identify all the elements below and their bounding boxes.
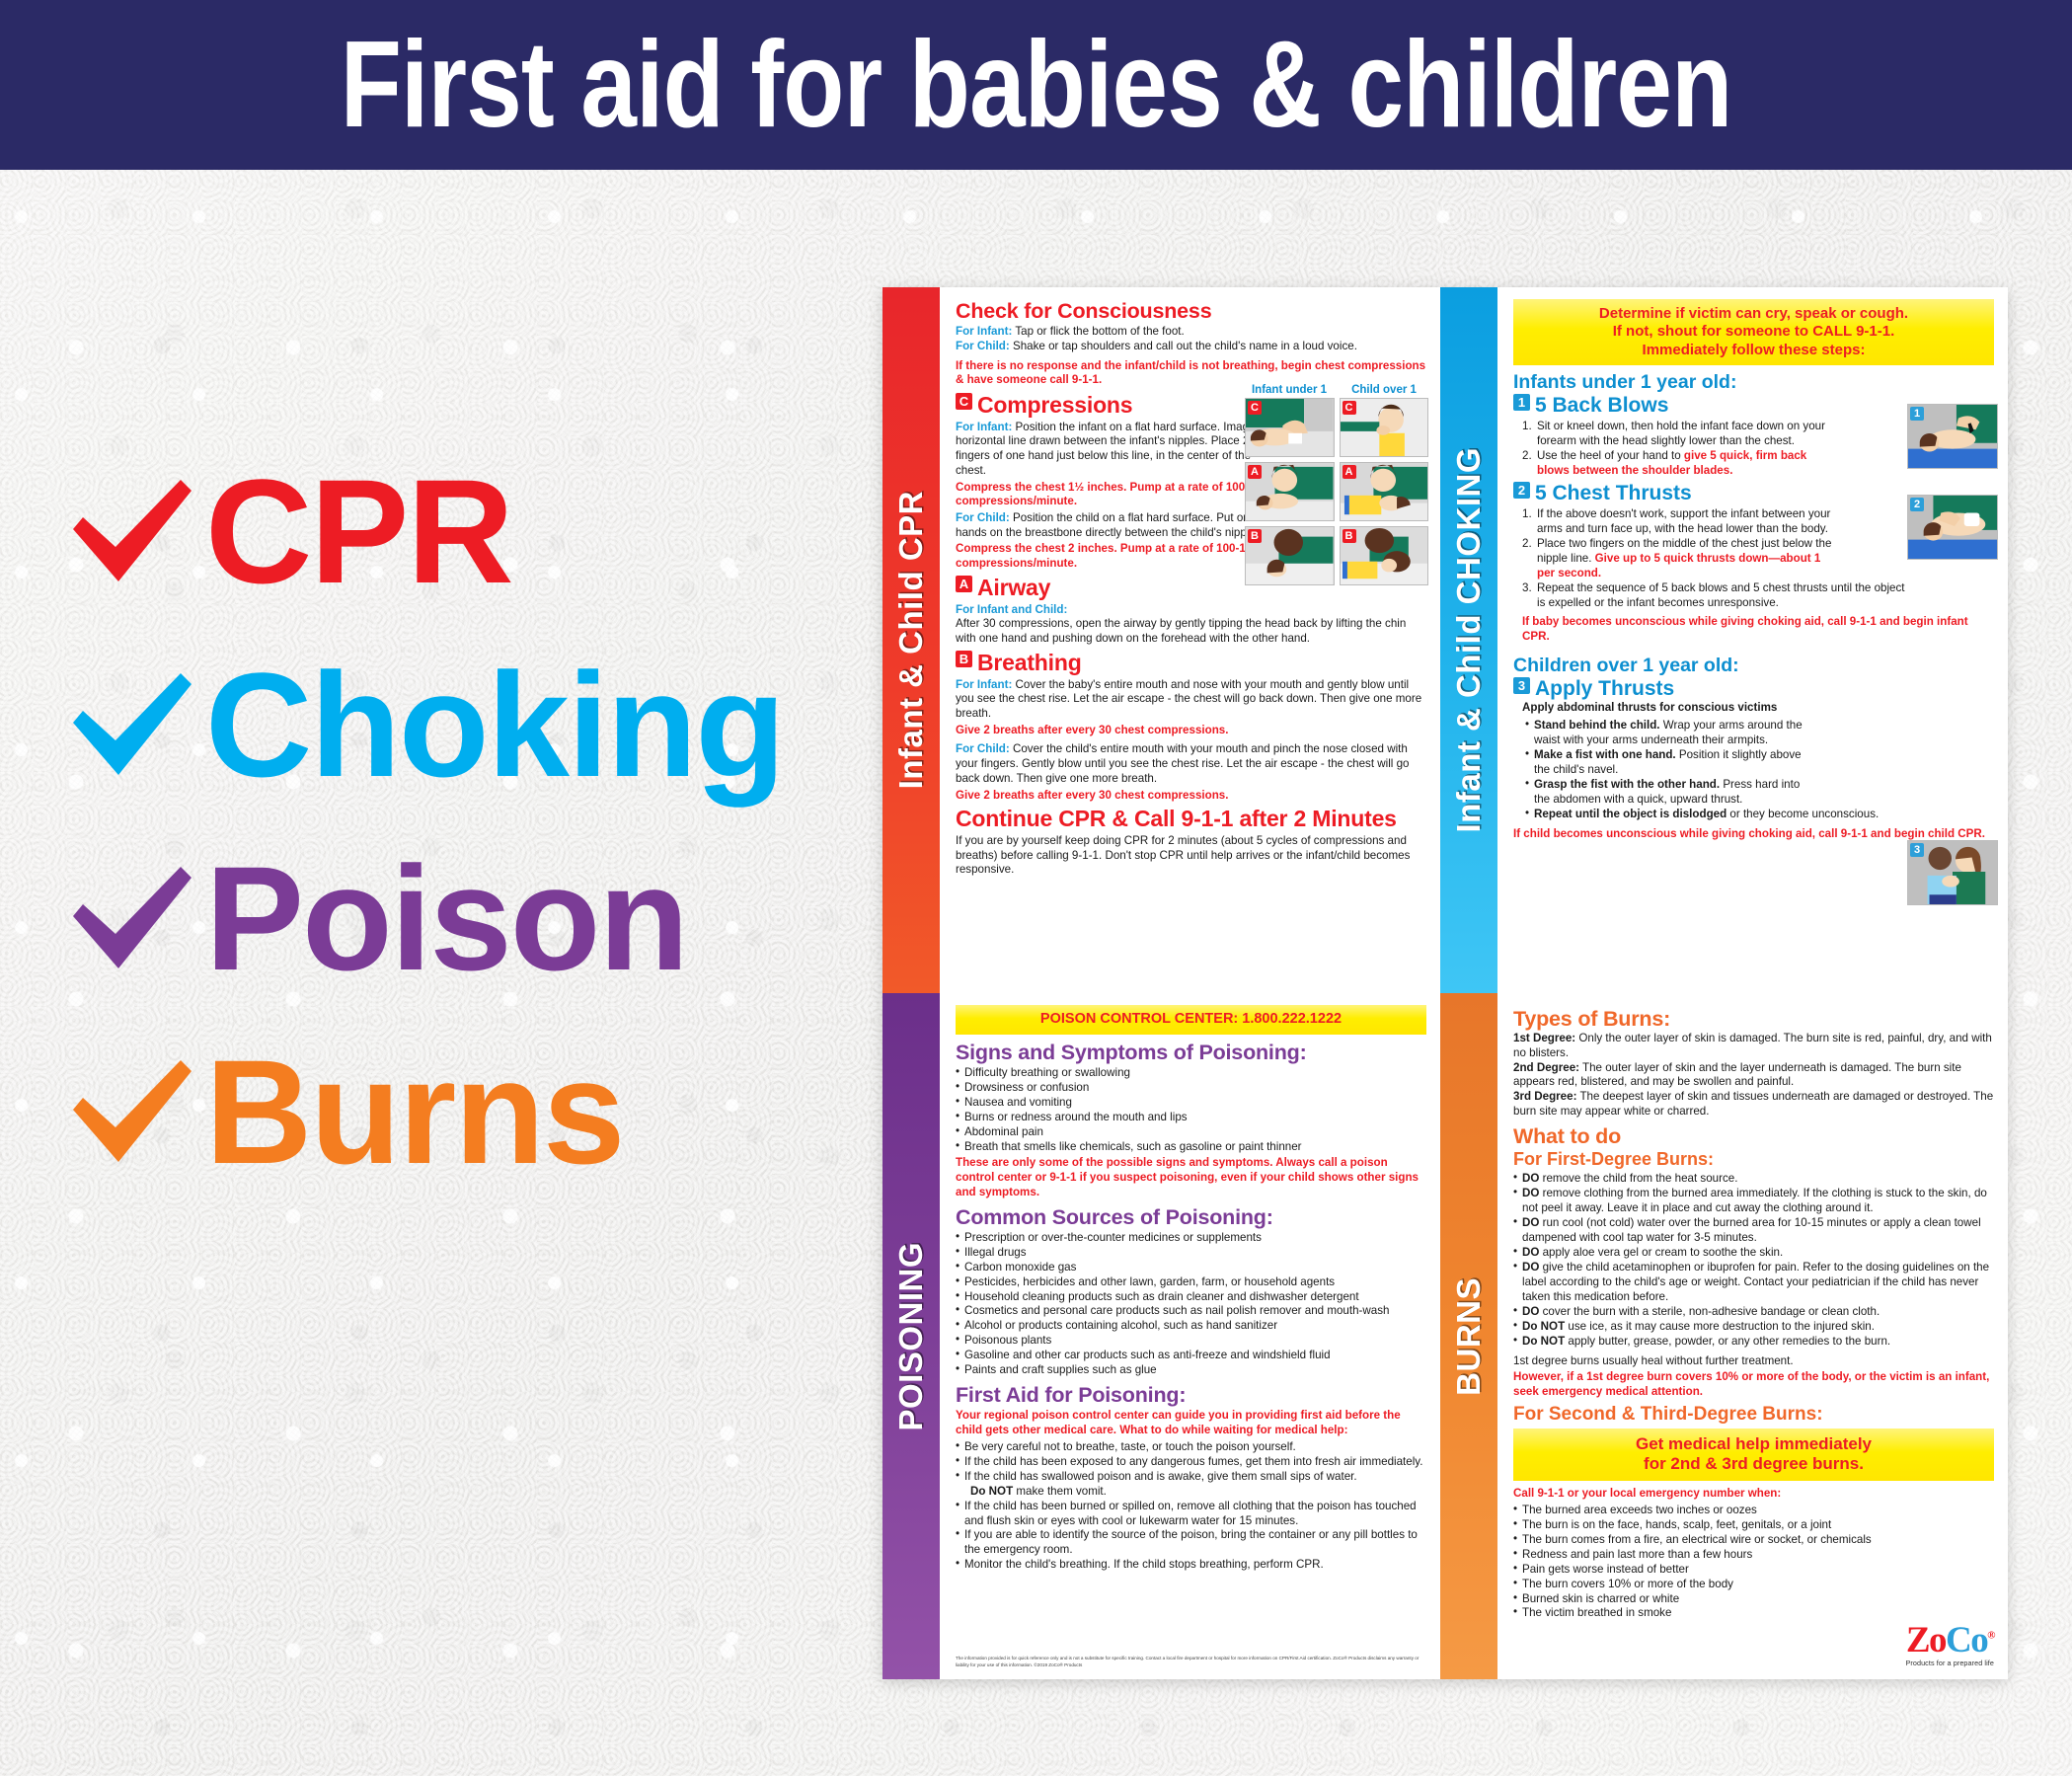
- label-for-infant: For Infant:: [956, 421, 1012, 433]
- zoco-logo: ZoCo® Products for a prepared life: [1906, 1624, 1995, 1667]
- badge-b: B: [1343, 529, 1356, 543]
- list-item: If the above doesn't work, support the i…: [1522, 506, 1833, 536]
- spine-label-cpr: Infant & Child CPR: [892, 491, 930, 789]
- do-label-3: DO: [1522, 1246, 1539, 1259]
- heading-first-degree-burns: For First-Degree Burns:: [1513, 1149, 1994, 1170]
- heading-apply-thrusts: Apply Thrusts: [1535, 677, 1674, 702]
- heading-continue-cpr: Continue CPR & Call 9-1-1 after 2 Minute…: [956, 807, 1426, 832]
- list-item: Do NOT use ice, as it may cause more des…: [1513, 1320, 1994, 1335]
- badge-a: A: [1248, 465, 1262, 479]
- do-text-7: apply butter, grease, powder, or any oth…: [1565, 1335, 1890, 1348]
- do-label-4: DO: [1522, 1261, 1539, 1274]
- list-item: DO run cool (not cold) water over the bu…: [1513, 1216, 1994, 1246]
- bullet-bold-3: Repeat until the object is dislodged: [1534, 808, 1727, 820]
- text-breath-child: Cover the child's entire mouth with your…: [956, 742, 1409, 784]
- illustration-child-compressions: C: [1340, 398, 1429, 457]
- text-breath-infant-note: Give 2 breaths after every 30 chest comp…: [956, 724, 1426, 738]
- list-item: Place two fingers on the middle of the c…: [1522, 536, 1833, 580]
- list-item: Burned skin is charred or white: [1513, 1592, 1994, 1607]
- banner-line-3: Immediately follow these steps:: [1521, 342, 1986, 359]
- heading-infants-under-1: Infants under 1 year old:: [1513, 371, 1994, 394]
- list-burn-dos: DO remove the child from the heat source…: [1513, 1172, 1994, 1349]
- panel-choking: Infant & Child CHOKING Determine if vict…: [1440, 287, 2008, 993]
- do-text-1: remove clothing from the burned area imm…: [1522, 1187, 1987, 1214]
- list-item: If you are able to identify the source o…: [956, 1528, 1426, 1558]
- do-label-1: DO: [1522, 1187, 1539, 1199]
- list-item: If the child has been burned or spilled …: [956, 1500, 1426, 1529]
- text-firstaid-intro: Your regional poison control center can …: [956, 1409, 1426, 1437]
- list-item: Cosmetics and personal care products suc…: [956, 1304, 1426, 1319]
- panel-cpr: Infant & Child CPR Check for Consciousne…: [883, 287, 1440, 993]
- label-1st-degree: 1st Degree:: [1513, 1032, 1575, 1044]
- label-2nd-degree: 2nd Degree:: [1513, 1061, 1579, 1074]
- list-item: Gasoline and other car products such as …: [956, 1349, 1426, 1363]
- spine-label-burns: BURNS: [1450, 1277, 1488, 1396]
- do-text-3: apply aloe vera gel or cream to soothe t…: [1539, 1246, 1783, 1259]
- heading-first-aid-poisoning: First Aid for Poisoning:: [956, 1383, 1426, 1407]
- checklist-label-cpr: CPR: [205, 457, 512, 605]
- list-item: DO apply aloe vera gel or cream to sooth…: [1513, 1246, 1994, 1261]
- first-aid-poster: Infant & Child CPR Check for Consciousne…: [883, 287, 2008, 1679]
- illustration-infant-airway: A: [1245, 462, 1335, 521]
- list-item: Be very careful not to breathe, taste, o…: [956, 1440, 1426, 1455]
- label-for-child: For Child:: [956, 340, 1010, 352]
- warning-signs: These are only some of the possible sign…: [956, 1156, 1426, 1199]
- label-3rd-degree: 3rd Degree:: [1513, 1090, 1576, 1103]
- badge-fig-1: 1: [1910, 407, 1924, 421]
- illustration-child-breathing: B: [1340, 526, 1429, 585]
- list-item: If the child has swallowed poison and is…: [956, 1470, 1426, 1500]
- firstaid-2-tail: make them vomit.: [1013, 1485, 1107, 1498]
- do-label-6: Do NOT: [1522, 1320, 1565, 1333]
- illustration-back-blows: 1: [1907, 404, 1998, 469]
- banner-poison-control: POISON CONTROL CENTER: 1.800.222.1222: [956, 1005, 1426, 1035]
- label-for-infant: For Infant:: [956, 325, 1012, 338]
- illustration-abdominal-thrusts: 3: [1907, 840, 1998, 905]
- badge-a: A: [1343, 465, 1356, 479]
- do-text-0: remove the child from the heat source.: [1539, 1172, 1737, 1185]
- check-icon: [57, 1058, 205, 1165]
- badge-b: B: [956, 651, 972, 667]
- list-item: Breath that smells like chemicals, such …: [956, 1140, 1426, 1155]
- list-item: Difficulty breathing or swallowing: [956, 1066, 1426, 1081]
- step2-item-1: If the above doesn't work, support the i…: [1537, 507, 1830, 535]
- list-sources: Prescription or over-the-counter medicin…: [956, 1231, 1426, 1379]
- heading-children-over-1: Children over 1 year old:: [1513, 655, 1994, 677]
- bullet-bold-1: Make a fist with one hand.: [1534, 748, 1676, 761]
- panel-burns: BURNS Types of Burns: 1st Degree: Only t…: [1440, 993, 2008, 1679]
- firstaid-2-text: If the child has swallowed poison and is…: [964, 1470, 1357, 1483]
- bullet-rest-3: or they become unconscious.: [1727, 808, 1879, 820]
- illustration-infant-compressions: C: [1245, 398, 1335, 457]
- bullet-bold-2: Grasp the fist with the other hand.: [1534, 778, 1720, 791]
- logo-tagline: Products for a prepared life: [1906, 1659, 1995, 1667]
- yellow-line-2: for 2nd & 3rd degree burns.: [1521, 1454, 1986, 1475]
- list-item: Paints and craft supplies such as glue: [956, 1363, 1426, 1378]
- list-item: The burn is on the face, hands, scalp, f…: [1513, 1518, 1994, 1533]
- firstaid-2-bold: Do NOT: [970, 1485, 1013, 1498]
- check-icon: [57, 478, 205, 584]
- list-item: Redness and pain last more than a few ho…: [1513, 1548, 1994, 1563]
- checklist-label-burns: Burns: [205, 1038, 623, 1186]
- text-3rd-degree: The deepest layer of skin and tissues un…: [1513, 1090, 1993, 1118]
- logo-part-co: Co: [1946, 1620, 1987, 1660]
- check-icon: [57, 865, 205, 971]
- cpr-illustrations: Infant under 1 Child over 1 C: [1245, 384, 1428, 585]
- heading-common-sources: Common Sources of Poisoning:: [956, 1205, 1426, 1229]
- list-item: CPR: [57, 434, 886, 628]
- label-for-infant-and-child: For Infant and Child:: [956, 603, 1067, 616]
- list-item: Carbon monoxide gas: [956, 1261, 1426, 1275]
- list-item: Illegal drugs: [956, 1246, 1426, 1261]
- panel-spine-burns: BURNS: [1440, 993, 1497, 1679]
- heading-second-third-degree: For Second & Third-Degree Burns:: [1513, 1404, 1994, 1426]
- warning-infant-unconscious: If baby becomes unconscious while giving…: [1522, 615, 1994, 644]
- list-item: Do NOT apply butter, grease, powder, or …: [1513, 1335, 1994, 1350]
- banner-line-1: Determine if victim can cry, speak or co…: [1521, 305, 1986, 323]
- label-for-child: For Child:: [956, 742, 1010, 755]
- list-call-911: The burned area exceeds two inches or oo…: [1513, 1504, 1994, 1622]
- heading-compressions: Compressions: [977, 393, 1132, 419]
- heading-breathing: Breathing: [977, 651, 1082, 676]
- banner-line-2: If not, shout for someone to CALL 9-1-1.: [1521, 323, 1986, 341]
- logo-part-zo: Zo: [1906, 1620, 1946, 1660]
- heading-what-to-do: What to do: [1513, 1124, 1994, 1148]
- illustration-child-airway: A: [1340, 462, 1429, 521]
- text-continue-cpr: If you are by yourself keep doing CPR fo…: [956, 834, 1426, 878]
- list-item: Sit or kneel down, then hold the infant …: [1522, 419, 1833, 448]
- heading-airway: Airway: [977, 576, 1050, 601]
- disclaimer-text: The information provided is for quick re…: [956, 1656, 1426, 1669]
- badge-fig-3: 3: [1910, 843, 1924, 857]
- list-signs: Difficulty breathing or swallowing Drows…: [956, 1066, 1426, 1155]
- illustration-chest-thrusts: 2: [1907, 495, 1998, 560]
- topic-checklist: CPR Choking Poison Burns: [57, 434, 886, 1208]
- banner-choking-assess: Determine if victim can cry, speak or co…: [1513, 299, 1994, 365]
- list-item: Drowsiness or confusion: [956, 1081, 1426, 1096]
- fig-header-child: Child over 1: [1340, 384, 1428, 396]
- list-item: If the child has been exposed to any dan…: [956, 1455, 1426, 1470]
- bullet-bold-0: Stand behind the child.: [1534, 719, 1660, 732]
- yellow-line-1: Get medical help immediately: [1521, 1434, 1986, 1455]
- badge-c: C: [956, 393, 972, 410]
- do-text-4: give the child acetaminophen or ibuprofe…: [1522, 1261, 1989, 1303]
- list-item: DO remove the child from the heat source…: [1513, 1172, 1994, 1187]
- text-breath-infant: Cover the baby's entire mouth and nose w…: [956, 678, 1421, 720]
- list-item: Use the heel of your hand to give 5 quic…: [1522, 448, 1833, 478]
- text-compress-child-rate: Compress the chest 2 inches. Pump at a r…: [956, 542, 1281, 571]
- fig-header-infant: Infant under 1: [1245, 384, 1334, 396]
- do-text-2: run cool (not cold) water over the burne…: [1522, 1216, 1981, 1244]
- logo-registered-mark: ®: [1987, 1630, 1994, 1642]
- list-item: Stand behind the child. Wrap your arms a…: [1525, 719, 1811, 748]
- list-item: DO give the child acetaminophen or ibupr…: [1513, 1261, 1994, 1305]
- list-item: Make a fist with one hand. Position it s…: [1525, 748, 1811, 778]
- heading-check-consciousness: Check for Consciousness: [956, 299, 1426, 323]
- text-child-consciousness: Shake or tap shoulders and call out the …: [1010, 340, 1357, 352]
- spine-label-choking: Infant & Child CHOKING: [1450, 447, 1488, 832]
- list-first-aid: Be very careful not to breathe, taste, o…: [956, 1440, 1426, 1574]
- list-item: Burns or redness around the mouth and li…: [956, 1111, 1426, 1125]
- label-for-child: For Child:: [956, 511, 1010, 524]
- illustration-infant-breathing: B: [1245, 526, 1335, 585]
- badge-c: C: [1343, 401, 1356, 415]
- list-item: Abdominal pain: [956, 1125, 1426, 1140]
- poster-header: First aid for babies & children: [0, 0, 2072, 170]
- warning-heal: However, if a 1st degree burn covers 10%…: [1513, 1370, 1994, 1399]
- step1-item-1: Sit or kneel down, then hold the infant …: [1537, 420, 1825, 447]
- check-icon: [57, 671, 205, 778]
- badge-step-3: 3: [1513, 677, 1530, 694]
- do-label-5: DO: [1522, 1305, 1539, 1318]
- step2-item-3: Repeat the sequence of 5 back blows and …: [1537, 581, 1905, 609]
- list-item: Pain gets worse instead of better: [1513, 1563, 1994, 1578]
- do-text-5: cover the burn with a sterile, non-adhes…: [1539, 1305, 1880, 1318]
- list-item: Monitor the child's breathing. If the ch…: [956, 1558, 1426, 1573]
- badge-fig-2: 2: [1910, 498, 1924, 511]
- panel-spine-cpr: Infant & Child CPR: [883, 287, 940, 993]
- heading-5-back-blows: 5 Back Blows: [1535, 394, 1668, 419]
- checklist-label-choking: Choking: [205, 651, 784, 799]
- list-item: Pesticides, herbicides and other lawn, g…: [956, 1275, 1426, 1290]
- list-item: Repeat until the object is dislodged or …: [1525, 808, 1910, 822]
- page-title: First aid for babies & children: [341, 24, 1732, 146]
- step1-item-2: Use the heel of your hand to: [1537, 449, 1684, 462]
- list-item: Nausea and vomiting: [956, 1096, 1426, 1111]
- list-item: Grasp the fist with the other hand. Pres…: [1525, 778, 1811, 808]
- heading-5-chest-thrusts: 5 Chest Thrusts: [1535, 482, 1692, 506]
- list-item: The burned area exceeds two inches or oo…: [1513, 1504, 1994, 1518]
- list-item: DO cover the burn with a sterile, non-ad…: [1513, 1305, 1994, 1320]
- list-item: DO remove clothing from the burned area …: [1513, 1187, 1994, 1216]
- panel-poisoning: POISONING POISON CONTROL CENTER: 1.800.2…: [883, 993, 1440, 1679]
- panel-spine-poisoning: POISONING: [883, 993, 940, 1679]
- list-item: Poisonous plants: [956, 1334, 1426, 1349]
- checklist-label-poison: Poison: [205, 844, 687, 992]
- do-label-7: Do NOT: [1522, 1335, 1565, 1348]
- heading-call-911: Call 9-1-1 or your local emergency numbe…: [1513, 1487, 1994, 1502]
- spine-label-poisoning: POISONING: [892, 1242, 930, 1431]
- do-label-2: DO: [1522, 1216, 1539, 1229]
- heading-signs-symptoms: Signs and Symptoms of Poisoning:: [956, 1041, 1426, 1064]
- badge-step-2: 2: [1513, 482, 1530, 499]
- text-compress-infant-rate: Compress the chest 1½ inches. Pump at a …: [956, 481, 1281, 509]
- badge-step-1: 1: [1513, 394, 1530, 411]
- panel-spine-choking: Infant & Child CHOKING: [1440, 287, 1497, 993]
- list-item: The burn comes from a fire, an electrica…: [1513, 1533, 1994, 1548]
- badge-a: A: [956, 576, 972, 592]
- badge-b: B: [1248, 529, 1262, 543]
- do-label-0: DO: [1522, 1172, 1539, 1185]
- do-text-6: use ice, as it may cause more destructio…: [1565, 1320, 1875, 1333]
- label-for-infant: For Infant:: [956, 678, 1012, 691]
- badge-c: C: [1248, 401, 1262, 415]
- list-item: Burns: [57, 1015, 886, 1208]
- text-abdominal-thrusts: Apply abdominal thrusts for conscious vi…: [1522, 701, 1994, 716]
- text-1st-degree: Only the outer layer of skin is damaged.…: [1513, 1032, 1992, 1059]
- list-item: The burn covers 10% or more of the body: [1513, 1578, 1994, 1592]
- list-item: Repeat the sequence of 5 back blows and …: [1522, 580, 1907, 610]
- text-airway: After 30 compressions, open the airway b…: [956, 617, 1426, 646]
- heading-types-of-burns: Types of Burns:: [1513, 1007, 1994, 1031]
- text-infant-consciousness: Tap or flick the bottom of the foot.: [1012, 325, 1184, 338]
- text-breath-child-note: Give 2 breaths after every 30 chest comp…: [956, 789, 1426, 804]
- text-2nd-degree: The outer layer of skin and the layer un…: [1513, 1061, 1961, 1089]
- banner-get-medical-help: Get medical help immediately for 2nd & 3…: [1513, 1429, 1994, 1481]
- list-item: Poison: [57, 821, 886, 1015]
- list-item: Alcohol or products containing alcohol, …: [956, 1319, 1426, 1334]
- text-heal-note: 1st degree burns usually heal without fu…: [1513, 1354, 1994, 1369]
- list-item: Household cleaning products such as drai…: [956, 1290, 1426, 1305]
- list-item: Choking: [57, 628, 886, 821]
- list-item: Prescription or over-the-counter medicin…: [956, 1231, 1426, 1246]
